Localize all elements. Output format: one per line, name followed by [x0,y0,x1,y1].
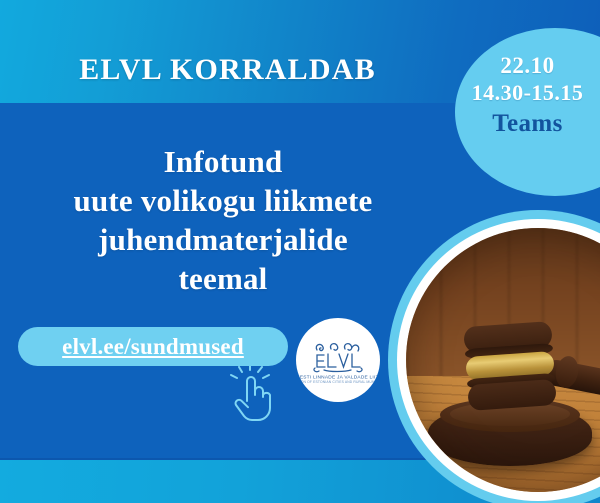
event-time: 14.30-15.15 [455,80,600,107]
heading-line-4: teemal [8,259,438,298]
elvl-logo: EESTI LINNADE JA VALDADE LIIT ASSOCIATIO… [296,318,380,402]
gavel-image [406,228,600,492]
website-link-pill[interactable]: elvl.ee/sundmused [18,327,288,366]
pointing-hand-click-icon [228,366,280,424]
website-url[interactable]: elvl.ee/sundmused [62,334,244,360]
elvl-monogram-icon [309,340,367,374]
heading-line-3: juhendmaterjalide [8,220,438,259]
event-date: 22.10 [455,52,600,80]
date-badge: 22.10 14.30-15.15 Teams [455,52,600,139]
logo-caption-secondary: ASSOCIATION OF ESTONIAN CITIES AND RURAL… [296,380,380,384]
logo-caption: EESTI LINNADE JA VALDADE LIIT [297,374,379,380]
heading-line-1: Infotund [8,142,438,181]
page-title: ELVL KORRALDAB [0,55,455,85]
event-heading: Infotund uute volikogu liikmete juhendma… [8,142,438,298]
heading-line-2: uute volikogu liikmete [8,181,438,220]
event-poster: ELVL KORRALDAB 22.10 14.30-15.15 Teams I… [0,0,600,503]
gavel-head [463,321,557,411]
gavel-photo-circle [388,210,600,503]
event-platform: Teams [455,109,600,140]
